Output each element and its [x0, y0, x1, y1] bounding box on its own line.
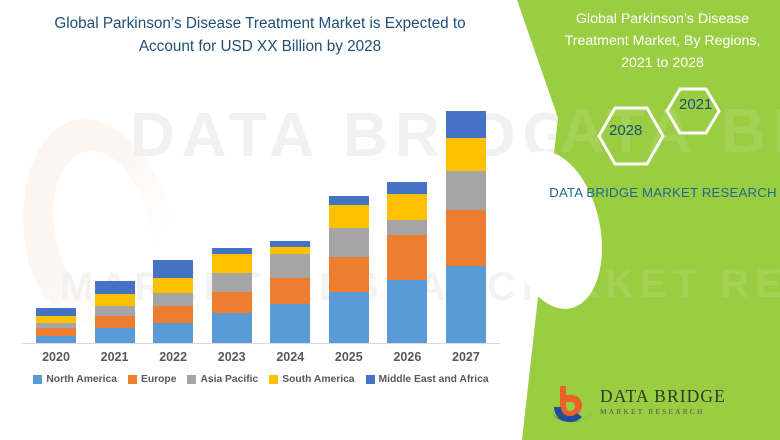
- legend-swatch-icon: [128, 375, 137, 384]
- bar-segment[interactable]: [270, 254, 310, 278]
- bar-segment[interactable]: [446, 138, 486, 172]
- bar-2027[interactable]: [446, 111, 486, 343]
- green-panel-title: Global Parkinson’s Disease Treatment Mar…: [550, 8, 775, 74]
- bar-segment[interactable]: [153, 323, 193, 343]
- bar-segment[interactable]: [329, 228, 369, 258]
- bar-segment[interactable]: [212, 273, 252, 291]
- chart-title: Global Parkinson’s Disease Treatment Mar…: [32, 13, 488, 59]
- bar-segment[interactable]: [153, 260, 193, 278]
- legend-item[interactable]: North America: [33, 374, 117, 385]
- data-bridge-logo: DATA BRIDGE MARKET RESEARCH: [548, 383, 763, 429]
- bar-segment[interactable]: [329, 292, 369, 343]
- infographic-slide: DATA BRIDGE MARKET RESEARCH DATA BRIDGE …: [0, 0, 780, 440]
- legend-label: Middle East and Africa: [379, 374, 489, 385]
- bar-segment[interactable]: [387, 182, 427, 194]
- hexagon-2028-label: 2028: [609, 122, 642, 139]
- hexagon-group: 2028 2021: [575, 86, 775, 171]
- green-side-panel: DATA BRIDGE MARKET RESEARCH Global Parki…: [500, 0, 780, 440]
- bar-segment[interactable]: [36, 316, 76, 323]
- bar-segment[interactable]: [153, 306, 193, 322]
- x-axis-label: 2021: [95, 350, 135, 370]
- x-axis-label: 2023: [212, 350, 252, 370]
- bar-segment[interactable]: [387, 280, 427, 343]
- hexagon-icons: [575, 86, 775, 171]
- legend-swatch-icon: [33, 375, 42, 384]
- bar-segment[interactable]: [387, 194, 427, 220]
- bar-segment[interactable]: [270, 304, 310, 343]
- bar-segment[interactable]: [446, 266, 486, 343]
- brand-name-text: DATA BRIDGE MARKET RESEARCH: [548, 183, 778, 203]
- legend-label: South America: [282, 374, 354, 385]
- bar-2020[interactable]: [36, 308, 76, 343]
- bar-segment[interactable]: [329, 257, 369, 292]
- bar-2024[interactable]: [270, 241, 310, 343]
- bar-segment[interactable]: [270, 247, 310, 254]
- legend-item[interactable]: South America: [269, 374, 354, 385]
- chart-legend: North AmericaEuropeAsia PacificSouth Ame…: [22, 374, 500, 385]
- legend-swatch-icon: [366, 375, 375, 384]
- chart-plot-area: [22, 96, 500, 344]
- bar-segment[interactable]: [446, 210, 486, 266]
- bar-2021[interactable]: [95, 281, 135, 343]
- bar-segment[interactable]: [446, 111, 486, 138]
- bar-2025[interactable]: [329, 196, 369, 343]
- bar-segment[interactable]: [36, 336, 76, 343]
- bar-segment[interactable]: [36, 308, 76, 316]
- logo-sub-text: MARKET RESEARCH: [600, 407, 726, 416]
- x-axis-label: 2027: [446, 350, 486, 370]
- bar-segment[interactable]: [95, 294, 135, 306]
- bar-segment[interactable]: [270, 278, 310, 305]
- x-axis-line: [22, 343, 500, 344]
- logo-b-shape: [560, 386, 582, 417]
- x-axis-label: 2020: [36, 350, 76, 370]
- x-axis-label: 2025: [329, 350, 369, 370]
- x-axis-labels: 20202021202220232024202520262027: [22, 350, 500, 370]
- bar-series-container: [22, 96, 500, 343]
- legend-label: Europe: [141, 374, 176, 385]
- legend-item[interactable]: Europe: [128, 374, 176, 385]
- x-axis-label: 2024: [270, 350, 310, 370]
- logo-main-text: DATA BRIDGE: [600, 387, 726, 405]
- bar-2023[interactable]: [212, 248, 252, 343]
- legend-swatch-icon: [269, 375, 278, 384]
- bar-segment[interactable]: [95, 316, 135, 328]
- chart-panel: Global Parkinson’s Disease Treatment Mar…: [0, 0, 520, 440]
- bar-segment[interactable]: [212, 313, 252, 343]
- bar-segment[interactable]: [95, 281, 135, 294]
- legend-item[interactable]: Middle East and Africa: [366, 374, 489, 385]
- data-bridge-b-logo-icon: [548, 383, 594, 425]
- bar-segment[interactable]: [329, 205, 369, 228]
- hexagon-2021-label: 2021: [679, 96, 712, 113]
- bar-segment[interactable]: [387, 220, 427, 235]
- legend-swatch-icon: [187, 375, 196, 384]
- bar-segment[interactable]: [153, 293, 193, 306]
- bar-segment[interactable]: [387, 235, 427, 280]
- legend-label: North America: [46, 374, 117, 385]
- bar-segment[interactable]: [153, 278, 193, 293]
- bar-2026[interactable]: [387, 182, 427, 343]
- bar-segment[interactable]: [446, 171, 486, 210]
- bar-segment[interactable]: [329, 196, 369, 204]
- legend-label: Asia Pacific: [200, 374, 258, 385]
- bar-segment[interactable]: [36, 328, 76, 336]
- bar-segment[interactable]: [95, 328, 135, 343]
- bar-2022[interactable]: [153, 260, 193, 343]
- x-axis-label: 2022: [153, 350, 193, 370]
- bar-segment[interactable]: [95, 306, 135, 317]
- logo-text: DATA BRIDGE MARKET RESEARCH: [600, 387, 726, 416]
- x-axis-label: 2026: [387, 350, 427, 370]
- bar-segment[interactable]: [212, 254, 252, 274]
- legend-item[interactable]: Asia Pacific: [187, 374, 258, 385]
- bar-segment[interactable]: [212, 292, 252, 314]
